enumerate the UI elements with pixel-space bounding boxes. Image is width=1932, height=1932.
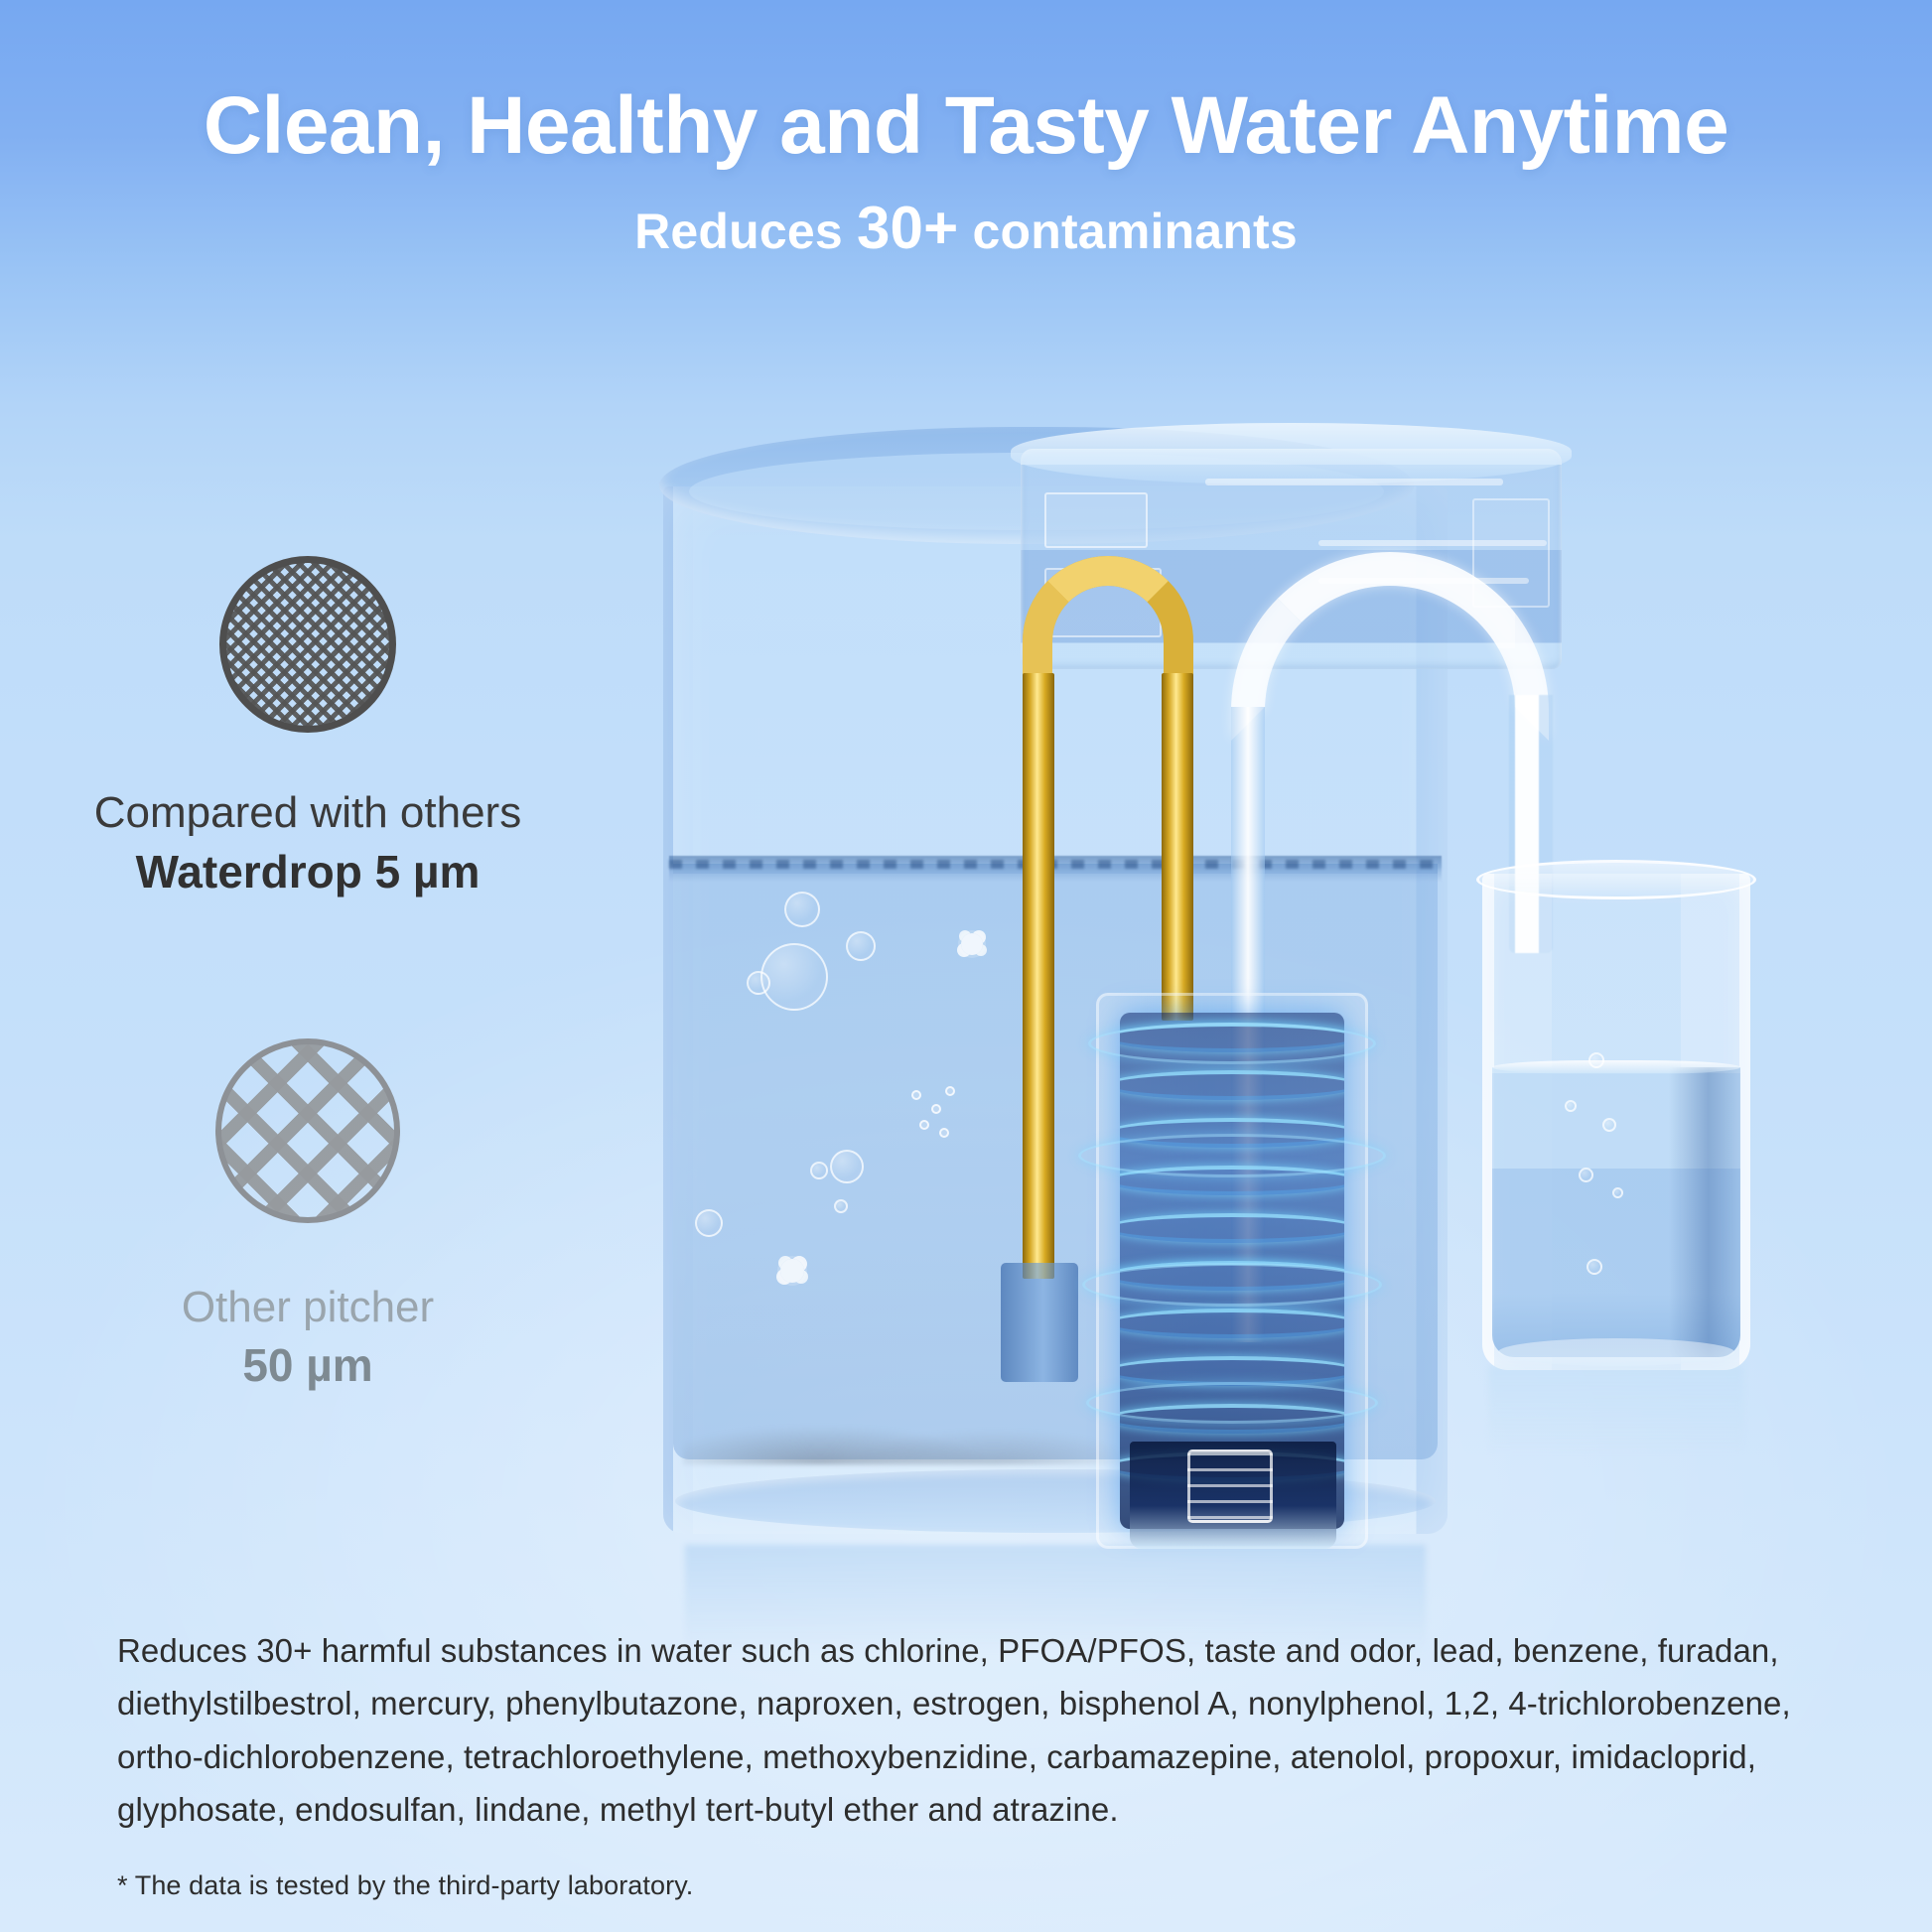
other-mesh-wrap	[0, 1038, 616, 1223]
waterdrop-micron-value: Waterdrop 5 µm	[0, 845, 616, 899]
testing-disclaimer: * The data is tested by the third-party …	[117, 1870, 1835, 1901]
page-subheadline: Reduces 30+ contaminants	[0, 199, 1932, 258]
other-pitcher-micron-value: 50 µm	[0, 1338, 616, 1393]
filtration-comparison-panel: Compared with others Waterdrop 5 µm Othe…	[0, 556, 616, 1394]
subhead-count: 30+	[857, 195, 958, 261]
footer: Reduces 30+ harmful substances in water …	[117, 1624, 1835, 1901]
comparison-item-waterdrop: Compared with others Waterdrop 5 µm	[0, 556, 616, 899]
waterdrop-compare-label: Compared with others	[0, 788, 616, 839]
coarse-mesh-icon	[215, 1038, 400, 1223]
contaminants-description: Reduces 30+ harmful substances in water …	[117, 1624, 1835, 1837]
comparison-item-other-pitcher: Other pitcher 50 µm	[0, 1038, 616, 1394]
subhead-prefix: Reduces	[634, 204, 857, 259]
subhead-suffix: contaminants	[958, 204, 1298, 259]
page-headline: Clean, Healthy and Tasty Water Anytime	[0, 85, 1932, 167]
fine-mesh-icon	[219, 556, 396, 733]
header: Clean, Healthy and Tasty Water Anytime R…	[0, 0, 1932, 258]
waterdrop-mesh-wrap	[0, 556, 616, 733]
other-pitcher-label: Other pitcher	[0, 1283, 616, 1333]
